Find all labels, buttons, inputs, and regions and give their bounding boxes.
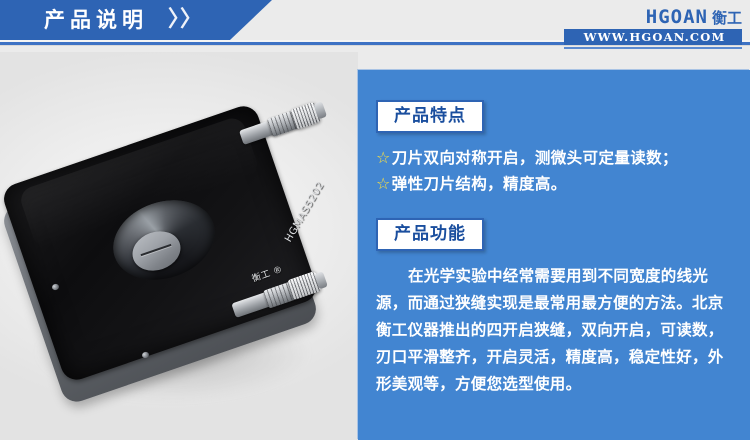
list-item: ☆弹性刀片结构，精度高。 — [376, 171, 732, 197]
logo-latin-wordmark: HGOAN — [646, 8, 708, 27]
page-title: 产品说明 — [44, 7, 148, 33]
function-paragraph: 在光学实验中经常需要用到不同宽度的线光源，而通过狭缝实现是最常用最方便的方法。北… — [376, 263, 732, 398]
product-photo: 衡工 ® HGMAS5202 — [0, 52, 358, 440]
list-item-label: 刀片双向对称开启，测微头可定量读数； — [392, 149, 678, 167]
features-list: ☆刀片双向对称开启，测微头可定量读数； ☆弹性刀片结构，精度高。 — [376, 145, 732, 197]
star-bullet-icon: ☆ — [376, 174, 391, 193]
list-item-label: 弹性刀片结构，精度高。 — [392, 175, 567, 193]
function-heading: 产品功能 — [376, 218, 484, 251]
logo-website-url[interactable]: WWW.HGOAN.COM — [564, 29, 742, 45]
logo-underline — [564, 47, 742, 49]
list-item: ☆刀片双向对称开启，测微头可定量读数； — [376, 145, 732, 171]
section-product-features: 产品特点 ☆刀片双向对称开启，测微头可定量读数； ☆弹性刀片结构，精度高。 — [358, 100, 750, 197]
features-heading: 产品特点 — [376, 100, 484, 133]
logo-wordmark-row: HGOAN 衡工 — [564, 6, 742, 27]
slit-device-illustration: 衡工 ® HGMAS5202 — [16, 86, 336, 386]
company-logo[interactable]: HGOAN 衡工 WWW.HGOAN.COM — [564, 6, 742, 49]
chevron-right-icon: 〉〉 — [168, 8, 203, 32]
logo-chinese-wordmark: 衡工 — [712, 10, 742, 27]
info-panel: 产品特点 ☆刀片双向对称开启，测微头可定量读数； ☆弹性刀片结构，精度高。 产品… — [358, 70, 750, 440]
product-description-page: 产品说明 〉〉 HGOAN 衡工 WWW.HGOAN.COM — [0, 0, 750, 440]
page-header: 产品说明 〉〉 HGOAN 衡工 WWW.HGOAN.COM — [0, 0, 750, 46]
star-bullet-icon: ☆ — [376, 148, 391, 167]
section-product-function: 产品功能 在光学实验中经常需要用到不同宽度的线光源，而通过狭缝实现是最常用最方便… — [358, 218, 750, 398]
